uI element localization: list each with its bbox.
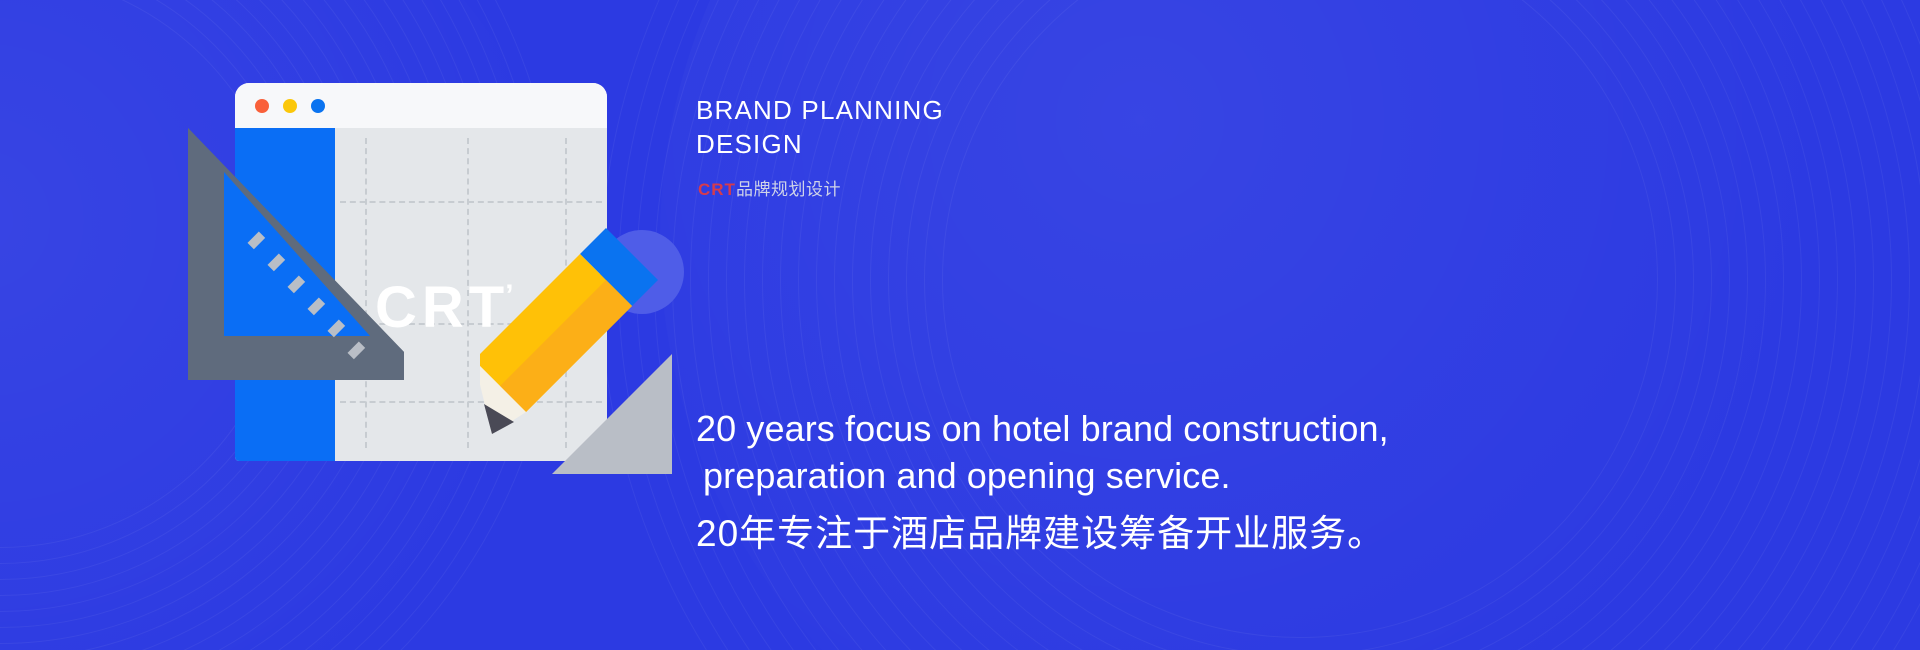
minimize-dot	[283, 99, 297, 113]
banner-copy: BRAND PLANNING DESIGN CRT品牌规划设计 20 years…	[696, 0, 1696, 650]
headline-line1: 20 years focus on hotel brand constructi…	[696, 408, 1389, 449]
headline-line2: preparation and opening service.	[696, 452, 1596, 499]
eyebrow-subtitle: CRT品牌规划设计	[698, 175, 841, 200]
brand-name: CRT	[698, 180, 736, 199]
maximize-dot	[311, 99, 325, 113]
eyebrow-subtitle-cn: 品牌规划设计	[736, 180, 841, 199]
browser-title-bar	[235, 83, 607, 128]
pencil-shadow	[552, 314, 672, 474]
triangle-ruler-icon	[180, 128, 420, 380]
headline-en: 20 years focus on hotel brand constructi…	[696, 405, 1596, 499]
eyebrow-title: BRAND PLANNING DESIGN	[696, 93, 944, 161]
brand-design-illustration: CRT’	[180, 70, 690, 470]
hero-banner: CRT’	[0, 0, 1920, 650]
headline-cn: 20年专注于酒店品牌建设筹备开业服务。	[696, 510, 1385, 558]
close-dot	[255, 99, 269, 113]
